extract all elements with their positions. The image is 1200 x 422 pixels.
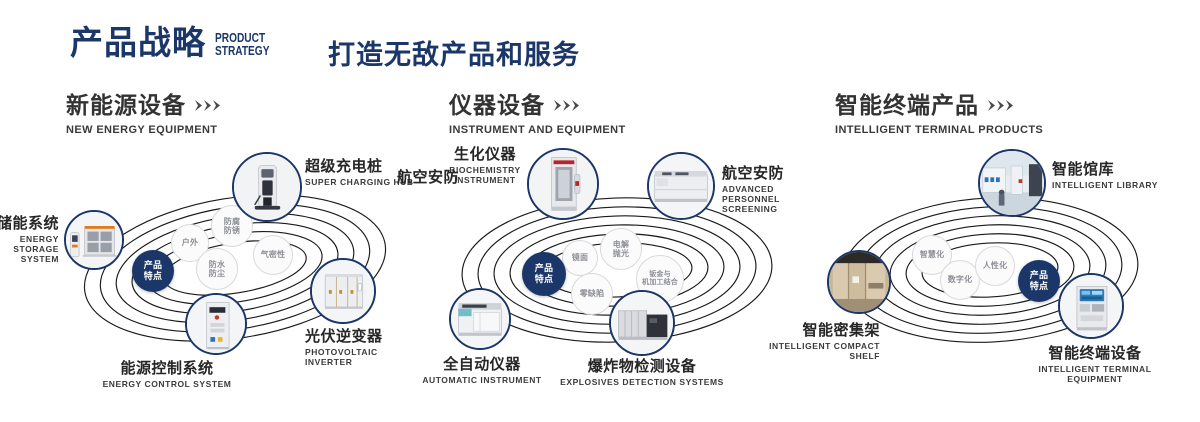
node-energy-control-system[interactable] [185, 293, 247, 355]
node-label-en: INTELLIGENT COMPACT SHELF [750, 342, 880, 362]
node-label-cn: 光伏逆变器 [305, 328, 415, 345]
section-title-intelligent: 智能终端产品 INTELLIGENT TERMINAL PRODUCTS [835, 94, 1043, 136]
node-caption-aviation-security: 航空安防 [384, 169, 459, 186]
page-subtitle: 打造无敌产品和服务 [328, 33, 580, 72]
section-title-instrument: 仪器设备 INSTRUMENT AND EQUIPMENT [449, 94, 626, 136]
feature-bubble: 防水 防尘 [196, 248, 238, 290]
node-energy-storage-system[interactable] [64, 210, 124, 270]
section-label: 仪器设备 [449, 94, 545, 117]
section-title-cn: 智能终端产品 [835, 94, 1043, 117]
page-header: 产品战略 PRODUCT STRATEGY [70, 26, 285, 59]
node-caption-intelligent-library: 智能馆库 INTELLIGENT LIBRARY [1052, 161, 1158, 191]
section-title-en: INSTRUMENT AND EQUIPMENT [449, 124, 626, 136]
node-label-cn: 能源控制系统 [77, 360, 257, 377]
node-caption-intelligent-compact-shelf: 智能密集架 INTELLIGENT COMPACT SHELF [750, 322, 880, 362]
node-intelligent-library[interactable] [978, 149, 1046, 217]
feature-bubble: 人性化 [975, 246, 1015, 286]
energy-storage-cabinet-photo [66, 212, 122, 268]
personnel-screening-photo [649, 154, 713, 218]
node-automatic-instrument[interactable] [449, 288, 511, 350]
feature-bubble: 气密性 [253, 235, 293, 275]
node-caption-energy-control-system: 能源控制系统 ENERGY CONTROL SYSTEM [77, 360, 257, 390]
node-label-cn: 生化仪器 [420, 146, 550, 163]
node-caption-advanced-personnel-screening: 航空安防 ADVANCED PERSONNEL SCREENING [722, 165, 802, 215]
node-caption-photovoltaic-inverter: 光伏逆变器 PHOTOVOLTAIC INVERTER [305, 328, 415, 368]
node-intelligent-compact-shelf[interactable] [827, 250, 891, 314]
automatic-instrument-photo [451, 290, 509, 348]
section-title-cn: 仪器设备 [449, 94, 626, 117]
energy-control-cabinet-photo [187, 295, 245, 353]
ev-charging-pile-photo [234, 154, 300, 220]
node-caption-explosives-detection-systems: 爆炸物检测设备 EXPLOSIVES DETECTION SYSTEMS [542, 358, 742, 388]
feature-bubble: 镜面 [562, 240, 598, 276]
section-label: 新能源设备 [66, 94, 186, 117]
node-label-cn: 智能终端设备 [1010, 345, 1180, 362]
node-label-en: INTELLIGENT TERMINAL EQUIPMENT [1010, 365, 1180, 385]
node-label-cn: 航空安防 [722, 165, 802, 182]
node-caption-automatic-instrument: 全自动仪器 AUTOMATIC INSTRUMENT [402, 356, 562, 386]
explosives-detection-photo [611, 292, 673, 354]
chevron-right-triple-icon [988, 100, 1020, 111]
node-label-cn: 航空安防 [384, 169, 459, 186]
core-badge-product-features: 产品 特点 [1018, 260, 1060, 302]
core-badge-product-features: 产品 特点 [132, 250, 174, 292]
cluster-new-energy-equipment: 户外 防腐 防锈 防水 防尘 气密性 产品 特点 超级充电桩 SUPER CHA… [55, 160, 415, 360]
core-badge-product-features: 产品 特点 [522, 252, 566, 296]
node-label-en: ENERGY STORAGE SYSTEM [0, 235, 59, 264]
page-title-en: PRODUCT STRATEGY [215, 31, 269, 58]
cluster-instrument-and-equipment: 镜面 电解 抛光 零缺陷 钣金与 机加工结合 产品 特点 生化仪器 BIOCHE… [432, 160, 802, 360]
feature-bubble: 零缺陷 [571, 273, 613, 315]
node-photovoltaic-inverter[interactable] [310, 258, 376, 324]
compact-shelf-photo [829, 252, 889, 312]
node-label-cn: 全自动仪器 [402, 356, 562, 373]
feature-bubble: 电解 抛光 [600, 228, 642, 270]
node-label-en: AUTOMATIC INSTRUMENT [402, 376, 562, 386]
section-label: 智能终端产品 [835, 94, 979, 117]
intelligent-library-photo [980, 151, 1044, 215]
node-caption-intelligent-terminal-equipment: 智能终端设备 INTELLIGENT TERMINAL EQUIPMENT [1010, 345, 1180, 385]
section-title-cn: 新能源设备 [66, 94, 227, 117]
feature-bubble: 数字化 [940, 260, 980, 300]
section-title-new-energy: 新能源设备 NEW ENERGY EQUIPMENT [66, 94, 227, 136]
node-label-en: EXPLOSIVES DETECTION SYSTEMS [542, 378, 742, 388]
section-title-en: NEW ENERGY EQUIPMENT [66, 124, 227, 136]
cluster-intelligent-terminal-products: 智慧化 数字化 人性化 产品 特点 智能馆库 INTELLIGEN [820, 160, 1160, 360]
node-label-cn: 智能馆库 [1052, 161, 1158, 178]
node-label-en: INTELLIGENT LIBRARY [1052, 181, 1158, 191]
photovoltaic-inverter-photo [312, 260, 374, 322]
node-label-en: ENERGY CONTROL SYSTEM [77, 380, 257, 390]
chevron-right-triple-icon [554, 100, 586, 111]
node-label-cn: 爆炸物检测设备 [542, 358, 742, 375]
node-explosives-detection-systems[interactable] [609, 290, 675, 356]
terminal-kiosk-photo [1060, 275, 1122, 337]
node-intelligent-terminal-equipment[interactable] [1058, 273, 1124, 339]
section-title-en: INTELLIGENT TERMINAL PRODUCTS [835, 124, 1043, 136]
node-label-en: PHOTOVOLTAIC INVERTER [305, 348, 415, 368]
product-strategy-infographic: 产品战略 PRODUCT STRATEGY 打造无敌产品和服务 新能源设备 NE… [0, 0, 1200, 422]
node-label-cn: 储能系统 [0, 215, 59, 232]
node-caption-energy-storage-system: 储能系统 ENERGY STORAGE SYSTEM [0, 215, 59, 265]
node-label-cn: 智能密集架 [750, 322, 880, 339]
node-super-charging-hub[interactable] [232, 152, 302, 222]
node-advanced-personnel-screening[interactable] [647, 152, 715, 220]
chevron-right-triple-icon [195, 100, 227, 111]
node-label-en: ADVANCED PERSONNEL SCREENING [722, 185, 802, 214]
page-title-cn: 产品战略 [70, 26, 206, 59]
